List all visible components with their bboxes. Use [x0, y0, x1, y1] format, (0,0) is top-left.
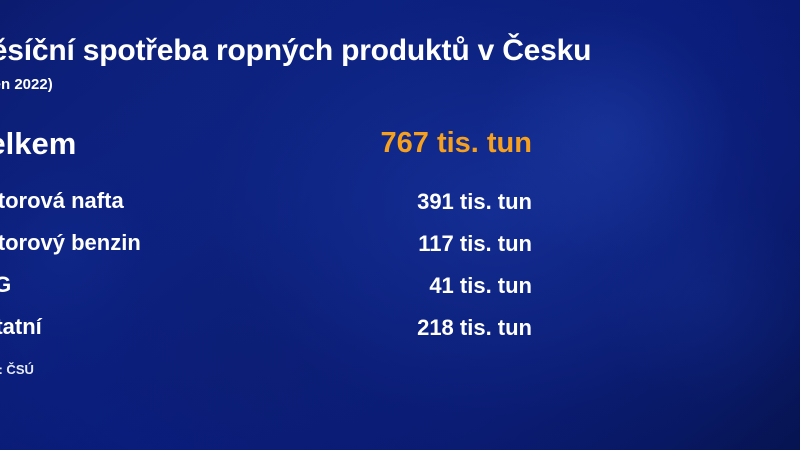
- total-row: Celkem 767 tis. tun: [0, 126, 566, 168]
- row-label: Motorová nafta: [0, 188, 124, 214]
- row-value: 218 tis. tun: [306, 315, 532, 341]
- row-value: 41 tis. tun: [306, 273, 532, 299]
- slide-content: Měsíční spotřeba ropných produktů v Česk…: [0, 0, 800, 450]
- row-label: Motorový benzin: [0, 230, 141, 256]
- table-row: Ostatní 218 tis. tun: [0, 314, 566, 356]
- total-value: 767 tis. tun: [306, 127, 532, 160]
- page-subtitle: (leden 2022): [0, 76, 53, 93]
- row-label: LPG: [0, 272, 11, 298]
- table-row: LPG 41 tis. tun: [0, 272, 566, 314]
- source-note: Zdroj: ČSÚ: [0, 362, 34, 377]
- total-label: Celkem: [0, 126, 76, 162]
- page-title: Měsíční spotřeba ropných produktů v Česk…: [0, 34, 786, 68]
- data-rows: Motorová nafta 391 tis. tun Motorový ben…: [0, 188, 566, 356]
- row-value: 391 tis. tun: [306, 189, 532, 215]
- table-row: Motorová nafta 391 tis. tun: [0, 188, 566, 230]
- table-row: Motorový benzin 117 tis. tun: [0, 230, 566, 272]
- infographic-slide: Měsíční spotřeba ropných produktů v Česk…: [0, 0, 800, 450]
- row-value: 117 tis. tun: [306, 231, 532, 257]
- row-label: Ostatní: [0, 314, 42, 340]
